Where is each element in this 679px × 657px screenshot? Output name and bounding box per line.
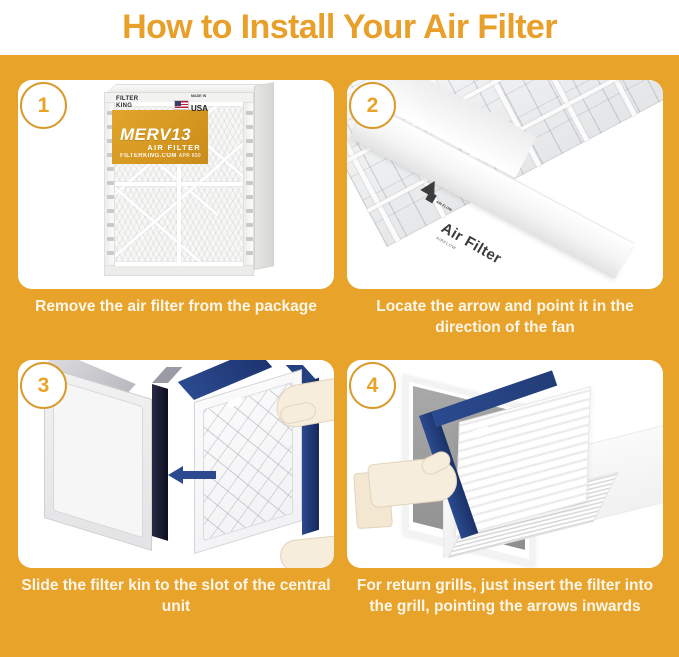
filter-right-rail-icon (243, 102, 254, 266)
step-card-3: 3 Slide the filter kin to the slot of th… (18, 360, 334, 657)
step-card-4: 4 For return grills, just insert the fil… (347, 360, 663, 657)
direction-arrow-icon (168, 466, 216, 484)
step-number-badge-1: 1 (20, 82, 67, 129)
hand-bottom-icon (279, 535, 334, 568)
header: How to Install Your Air Filter (0, 0, 679, 55)
made-in-usa-mark: MADE IN USA (174, 94, 208, 116)
website-text: FILTERKING.COM (120, 153, 177, 159)
filter-side-face-icon (254, 82, 274, 270)
step-card-2: AIR FLOW Air Filter AIRFLOW 2 Locate the… (347, 80, 663, 370)
merv-rating-text: MERV13 (120, 125, 191, 145)
step-number-badge-2: 2 (349, 82, 396, 129)
apr-code-text: APR 650 (179, 153, 201, 159)
unit-inner-panel-icon (53, 379, 143, 539)
product-label-sticker: MERV13 AIR FILTER FILTERKING.COM APR 650 (112, 110, 208, 164)
step-number-badge-4: 4 (349, 362, 396, 409)
brand-line-1: FILTER (116, 96, 138, 102)
unit-slot-icon (152, 384, 168, 541)
filter-king-brand-logo: FILTER KING (116, 96, 138, 109)
us-flag-icon (174, 100, 189, 110)
air-filter-subtitle: AIR FILTER (147, 143, 201, 152)
step-caption-4: For return grills, just insert the filte… (347, 575, 663, 617)
step-number-badge-3: 3 (20, 362, 67, 409)
page-title: How to Install Your Air Filter (122, 8, 557, 47)
usa-label: USA (191, 104, 208, 113)
step-caption-3: Slide the filter kin to the slot of the … (18, 575, 334, 617)
made-in-label: MADE IN (191, 94, 208, 98)
step-card-1: FILTER KING MADE IN USA MERV13 AIR FILTE… (18, 80, 334, 370)
brand-line-2: KING (116, 103, 138, 110)
step-caption-1: Remove the air filter from the package (18, 296, 334, 317)
air-filter-frame-text: Air Filter AIRFLOW (435, 220, 504, 273)
infographic-page: How to Install Your Air Filter (0, 0, 679, 657)
step-caption-2: Locate the arrow and point it in the dir… (347, 296, 663, 338)
steps-grid: FILTER KING MADE IN USA MERV13 AIR FILTE… (0, 55, 679, 657)
